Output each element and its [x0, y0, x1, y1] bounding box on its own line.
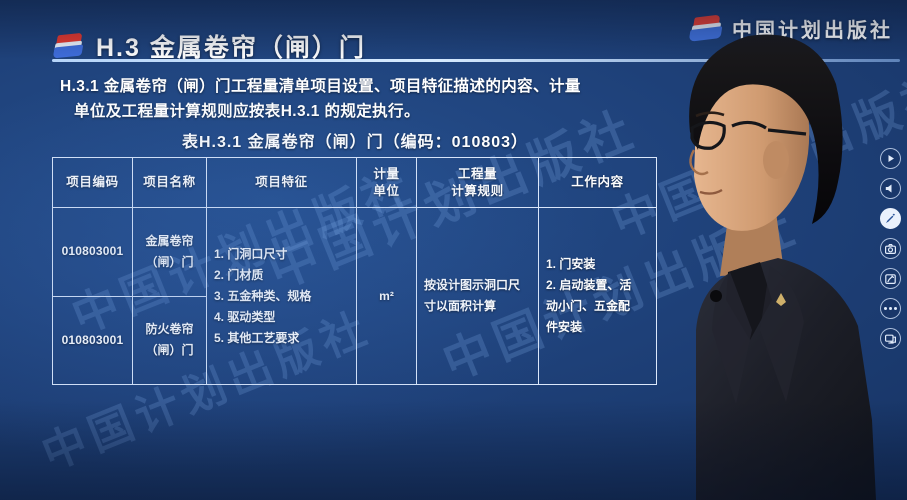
col-header-code: 项目编码: [53, 158, 133, 208]
col-header-name: 项目名称: [133, 158, 207, 208]
table-header: 项目编码 项目名称 项目特征 计量 单位 工程量 计算规则 工作内容: [53, 158, 657, 208]
more-icon[interactable]: [880, 298, 901, 319]
cell-features: 1. 门洞口尺寸 2. 门材质 3. 五金种类、规格 4. 驱动类型 5. 其他…: [207, 208, 357, 385]
book-stack-icon: [55, 34, 85, 58]
volume-icon[interactable]: [880, 178, 901, 199]
calc-rule-line1: 按设计图示洞口尺: [424, 275, 531, 296]
feature-item: 4. 驱动类型: [214, 307, 349, 328]
feature-item: 1. 门洞口尺寸: [214, 244, 349, 265]
presenter-ear: [763, 141, 789, 179]
feature-item: 5. 其他工艺要求: [214, 328, 349, 349]
specification-table: 项目编码 项目名称 项目特征 计量 单位 工程量 计算规则 工作内容 01080…: [52, 157, 657, 385]
table-row: 010803001 金属卷帘 （闸）门 1. 门洞口尺寸 2. 门材质 3. 五…: [53, 208, 657, 297]
pen-icon[interactable]: [880, 208, 901, 229]
col-header-unit: 计量 单位: [357, 158, 417, 208]
calc-rule-line2: 寸以面积计算: [424, 296, 531, 317]
lecture-slide-screen: 中国计划出版社 中国计划出版社 中国计划出版社 中国计划出版社 中国计划出版社 …: [0, 0, 907, 500]
feature-item: 2. 门材质: [214, 265, 349, 286]
table-body: 010803001 金属卷帘 （闸）门 1. 门洞口尺寸 2. 门材质 3. 五…: [53, 208, 657, 385]
play-icon[interactable]: [880, 148, 901, 169]
intro-paragraph: H.3.1 金属卷帘（闸）门工程量清单项目设置、项目特征描述的内容、计量 单位及…: [60, 74, 680, 124]
cell-unit: m²: [357, 208, 417, 385]
cell-name-line1: 金属卷帘: [140, 231, 199, 252]
cell-name: 金属卷帘 （闸）门: [133, 208, 207, 297]
presenter-video: [600, 0, 907, 500]
annotate-icon[interactable]: [880, 268, 901, 289]
col-header-rule: 工程量 计算规则: [417, 158, 539, 208]
cell-calc-rule: 按设计图示洞口尺 寸以面积计算: [417, 208, 539, 385]
camera-icon[interactable]: [880, 238, 901, 259]
col-header-rule-line1: 工程量: [417, 166, 538, 183]
cell-name-line2: （闸）门: [140, 340, 199, 361]
cell-code: 010803001: [53, 208, 133, 297]
col-header-unit-line1: 计量: [357, 166, 416, 183]
intro-line-1: H.3.1 金属卷帘（闸）门工程量清单项目设置、项目特征描述的内容、计量: [60, 78, 581, 95]
feature-item: 3. 五金种类、规格: [214, 286, 349, 307]
col-header-rule-line2: 计算规则: [417, 183, 538, 200]
cell-code: 010803001: [53, 296, 133, 385]
intro-line-2: 单位及工程量计算规则应按表H.3.1 的规定执行。: [60, 99, 680, 124]
screen-share-icon[interactable]: [880, 328, 901, 349]
col-header-unit-line2: 单位: [357, 183, 416, 200]
lapel-mic-icon: [710, 290, 722, 302]
table-caption: 表H.3.1 金属卷帘（闸）门（编码：010803）: [55, 128, 655, 152]
cell-name-line2: （闸）门: [140, 252, 199, 273]
player-toolbar[interactable]: [877, 148, 903, 349]
cell-name: 防火卷帘 （闸）门: [133, 296, 207, 385]
cell-name-line1: 防火卷帘: [140, 319, 199, 340]
col-header-feature: 项目特征: [207, 158, 357, 208]
table-header-row: 项目编码 项目名称 项目特征 计量 单位 工程量 计算规则 工作内容: [53, 158, 657, 208]
